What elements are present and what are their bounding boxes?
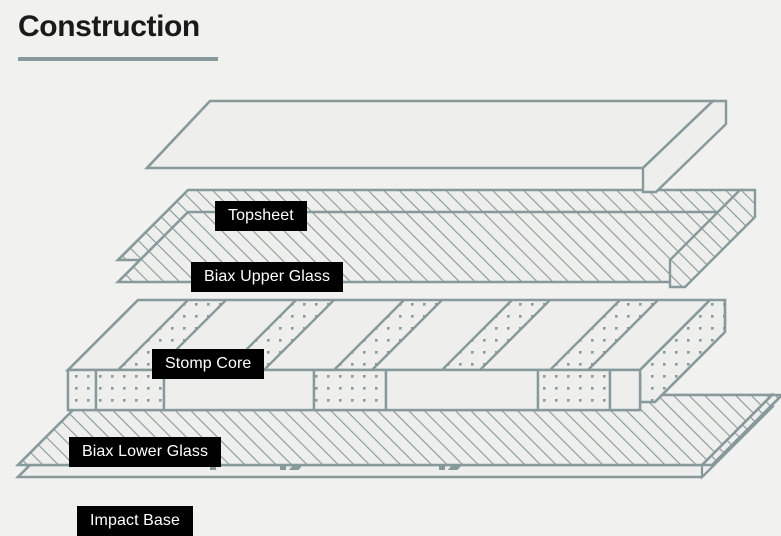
page-header: Construction xyxy=(18,8,418,61)
layer-label-stomp-core[interactable]: Stomp Core xyxy=(152,349,264,379)
layer-topsheet xyxy=(147,101,726,192)
construction-diagram-page: Construction xyxy=(0,0,781,526)
construction-diagram: Topsheet Biax Upper Glass Stomp Core Bia… xyxy=(0,72,781,526)
layer-label-biax-lower-glass[interactable]: Biax Lower Glass xyxy=(69,437,221,467)
topsheet-surface xyxy=(147,101,713,168)
page-title: Construction xyxy=(18,8,418,46)
layer-label-impact-base[interactable]: Impact Base xyxy=(77,506,193,536)
layer-label-biax-upper-glass[interactable]: Biax Upper Glass xyxy=(191,262,343,292)
layer-stomp-core xyxy=(10,300,766,410)
layer-label-topsheet[interactable]: Topsheet xyxy=(215,201,307,231)
title-underline-rule xyxy=(18,57,218,61)
